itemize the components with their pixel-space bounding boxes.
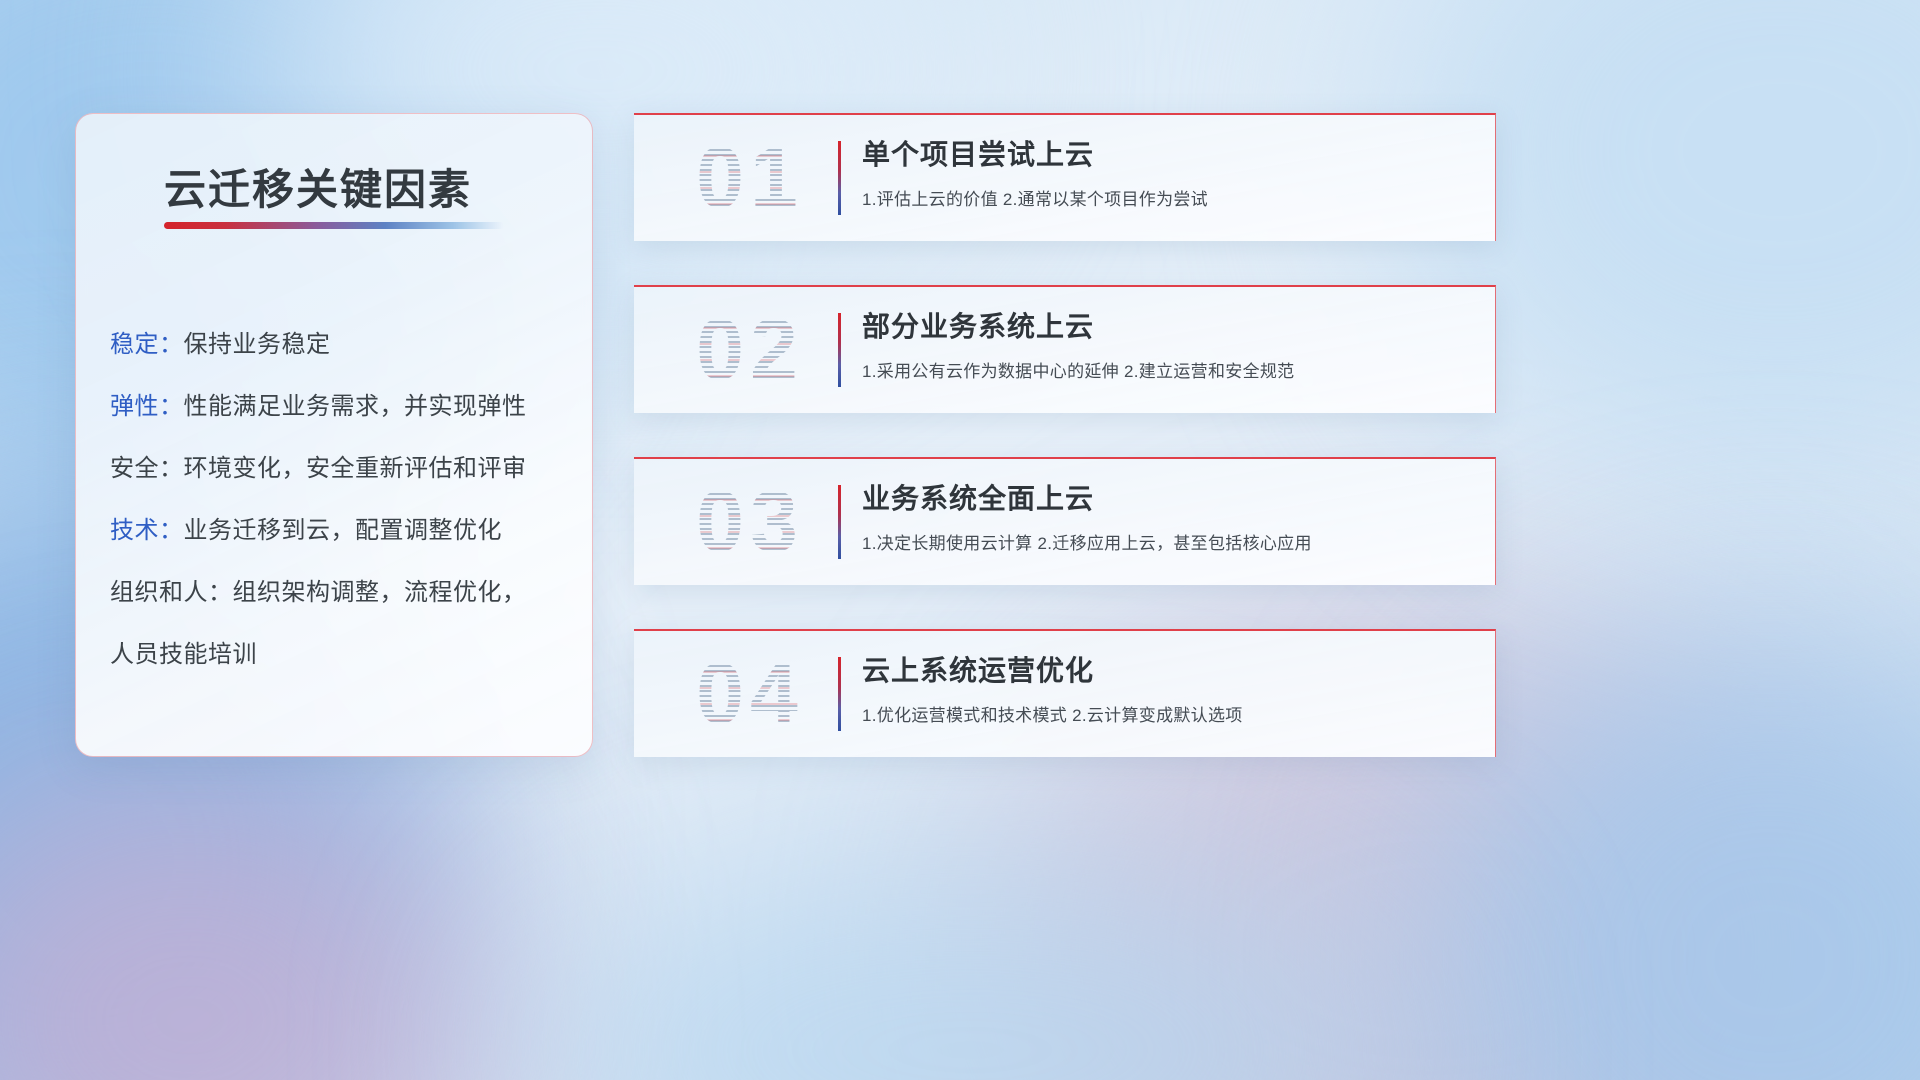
- stage-number: 03: [696, 473, 804, 572]
- stage-number: 01: [696, 129, 804, 228]
- stage-number-watermark: 0101: [660, 123, 840, 233]
- factor-label: 技术：: [110, 517, 184, 544]
- stage-number: 04: [696, 645, 804, 744]
- factor-text: 环境变化，安全重新评估和评审: [184, 455, 527, 482]
- stage-text-block: 部分业务系统上云1.采用公有云作为数据中心的延伸 2.建立运营和安全规范: [862, 305, 1471, 382]
- stage-number-tint: 02: [660, 295, 840, 405]
- factor-item: 组织和人：组织架构调整，流程优化，: [110, 562, 570, 624]
- factor-item: 人员技能培训: [110, 624, 570, 686]
- stage-description: 1.评估上云的价值 2.通常以某个项目作为尝试: [862, 185, 1471, 210]
- stage-title: 业务系统全面上云: [862, 477, 1471, 517]
- stage-number: 02: [696, 301, 804, 400]
- stage-card[interactable]: 0404云上系统运营优化1.优化运营模式和技术模式 2.云计算变成默认选项: [634, 629, 1496, 757]
- factor-list: 稳定：保持业务稳定弹性：性能满足业务需求，并实现弹性安全：环境变化，安全重新评估…: [110, 314, 570, 686]
- stage-text-block: 单个项目尝试上云1.评估上云的价值 2.通常以某个项目作为尝试: [862, 133, 1471, 210]
- factor-text: 人员技能培训: [110, 641, 257, 668]
- panel-title: 云迁移关键因素: [164, 156, 472, 217]
- stage-number-watermark: 0404: [660, 639, 840, 749]
- stage-divider-bar: [838, 485, 841, 559]
- factor-text: 业务迁移到云，配置调整优化: [184, 517, 503, 544]
- factor-item: 弹性：性能满足业务需求，并实现弹性: [110, 376, 570, 438]
- factor-item: 安全：环境变化，安全重新评估和评审: [110, 438, 570, 500]
- stage-title: 部分业务系统上云: [862, 305, 1471, 345]
- stage-number-tint: 03: [660, 467, 840, 577]
- stage-number-watermark: 0202: [660, 295, 840, 405]
- stage-number-tint: 01: [660, 123, 840, 233]
- factor-item: 技术：业务迁移到云，配置调整优化: [110, 500, 570, 562]
- factor-label: 稳定：: [110, 331, 184, 358]
- stage-description: 1.优化运营模式和技术模式 2.云计算变成默认选项: [862, 701, 1471, 726]
- stage-title: 云上系统运营优化: [862, 649, 1471, 689]
- factor-text: 组织架构调整，流程优化，: [233, 579, 527, 606]
- stage-number-watermark: 0303: [660, 467, 840, 577]
- stage-divider-bar: [838, 313, 841, 387]
- stage-divider-bar: [838, 657, 841, 731]
- stage-text-block: 业务系统全面上云1.决定长期使用云计算 2.迁移应用上云，甚至包括核心应用: [862, 477, 1471, 554]
- factor-text: 保持业务稳定: [184, 331, 331, 358]
- factor-label: 组织和人：: [110, 579, 233, 606]
- key-factors-panel: 云迁移关键因素 稳定：保持业务稳定弹性：性能满足业务需求，并实现弹性安全：环境变…: [75, 113, 593, 757]
- factor-text: 性能满足业务需求，并实现弹性: [184, 393, 527, 420]
- title-underline-gradient: [164, 222, 504, 229]
- stage-text-block: 云上系统运营优化1.优化运营模式和技术模式 2.云计算变成默认选项: [862, 649, 1471, 726]
- stage-card[interactable]: 0202部分业务系统上云1.采用公有云作为数据中心的延伸 2.建立运营和安全规范: [634, 285, 1496, 413]
- stage-description: 1.决定长期使用云计算 2.迁移应用上云，甚至包括核心应用: [862, 529, 1471, 554]
- stage-description: 1.采用公有云作为数据中心的延伸 2.建立运营和安全规范: [862, 357, 1471, 382]
- stage-card[interactable]: 0101单个项目尝试上云1.评估上云的价值 2.通常以某个项目作为尝试: [634, 113, 1496, 241]
- factor-label: 安全：: [110, 455, 184, 482]
- migration-stage-list: 0101单个项目尝试上云1.评估上云的价值 2.通常以某个项目作为尝试0202部…: [634, 113, 1496, 757]
- factor-label: 弹性：: [110, 393, 184, 420]
- stage-title: 单个项目尝试上云: [862, 133, 1471, 173]
- stage-number-tint: 04: [660, 639, 840, 749]
- stage-divider-bar: [838, 141, 841, 215]
- stage-card[interactable]: 0303业务系统全面上云1.决定长期使用云计算 2.迁移应用上云，甚至包括核心应…: [634, 457, 1496, 585]
- factor-item: 稳定：保持业务稳定: [110, 314, 570, 376]
